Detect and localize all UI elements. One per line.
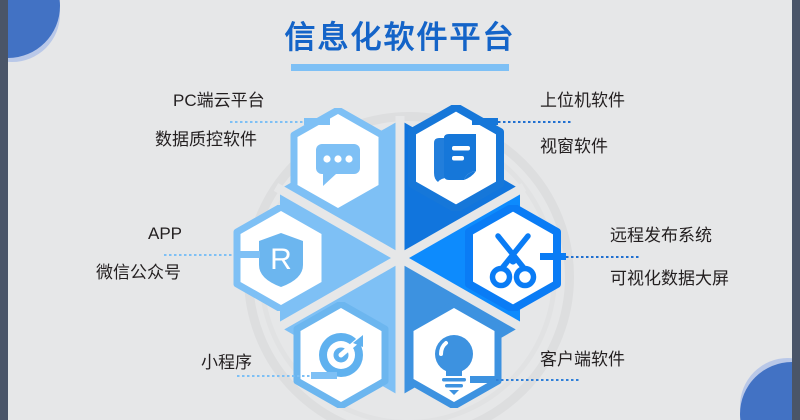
- connector-app: [164, 251, 260, 258]
- connector-host-computer-software: [472, 118, 572, 125]
- connector-client-software: [470, 376, 580, 383]
- title-underline: [291, 64, 509, 71]
- infographic-canvas: 信息化软件平台: [0, 0, 800, 420]
- connector-dots: [566, 256, 640, 258]
- hexagon-app[interactable]: R: [233, 205, 329, 311]
- label-wechat-official-account: 微信公众号: [96, 262, 181, 284]
- svg-text:R: R: [270, 243, 292, 276]
- left-edge-bar: [0, 0, 8, 420]
- connector-remote-publishing-system: [540, 253, 640, 260]
- label-window-software: 视窗软件: [540, 136, 608, 158]
- connector-pc-cloud-platform: [230, 118, 330, 125]
- connector-dash: [470, 376, 496, 383]
- connector-dots: [237, 375, 311, 377]
- label-client-software: 客户端软件: [540, 349, 625, 371]
- connector-dots: [498, 121, 572, 123]
- decorative-circle-solid: [740, 362, 800, 420]
- target-arrow-icon: [319, 333, 363, 377]
- connector-dash: [540, 253, 566, 260]
- label-pc-cloud-platform: PC端云平台: [173, 90, 265, 112]
- connector-dots: [496, 379, 580, 381]
- document-book-icon: [434, 134, 476, 182]
- corner-decoration-bottom-right: [694, 316, 800, 420]
- connector-dots: [230, 121, 304, 123]
- connector-dash: [234, 251, 260, 258]
- connector-mini-program: [237, 372, 337, 379]
- connector-dash: [472, 118, 498, 125]
- label-mini-program: 小程序: [201, 352, 252, 374]
- label-host-computer-software: 上位机软件: [540, 90, 625, 112]
- connector-dots: [164, 254, 234, 256]
- label-visual-data-screen: 可视化数据大屏: [610, 268, 729, 290]
- label-app: APP: [148, 223, 182, 245]
- page-title: 信息化软件平台: [0, 18, 800, 58]
- connector-dash: [311, 372, 337, 379]
- right-edge-bar: [792, 0, 800, 420]
- label-data-quality-software: 数据质控软件: [155, 129, 257, 151]
- hexagon-client-software[interactable]: [406, 302, 502, 408]
- hexagon-mini-program[interactable]: [293, 302, 389, 408]
- connector-dash: [304, 118, 330, 125]
- label-remote-publishing-system: 远程发布系统: [610, 225, 712, 247]
- title-block: 信息化软件平台: [0, 18, 800, 71]
